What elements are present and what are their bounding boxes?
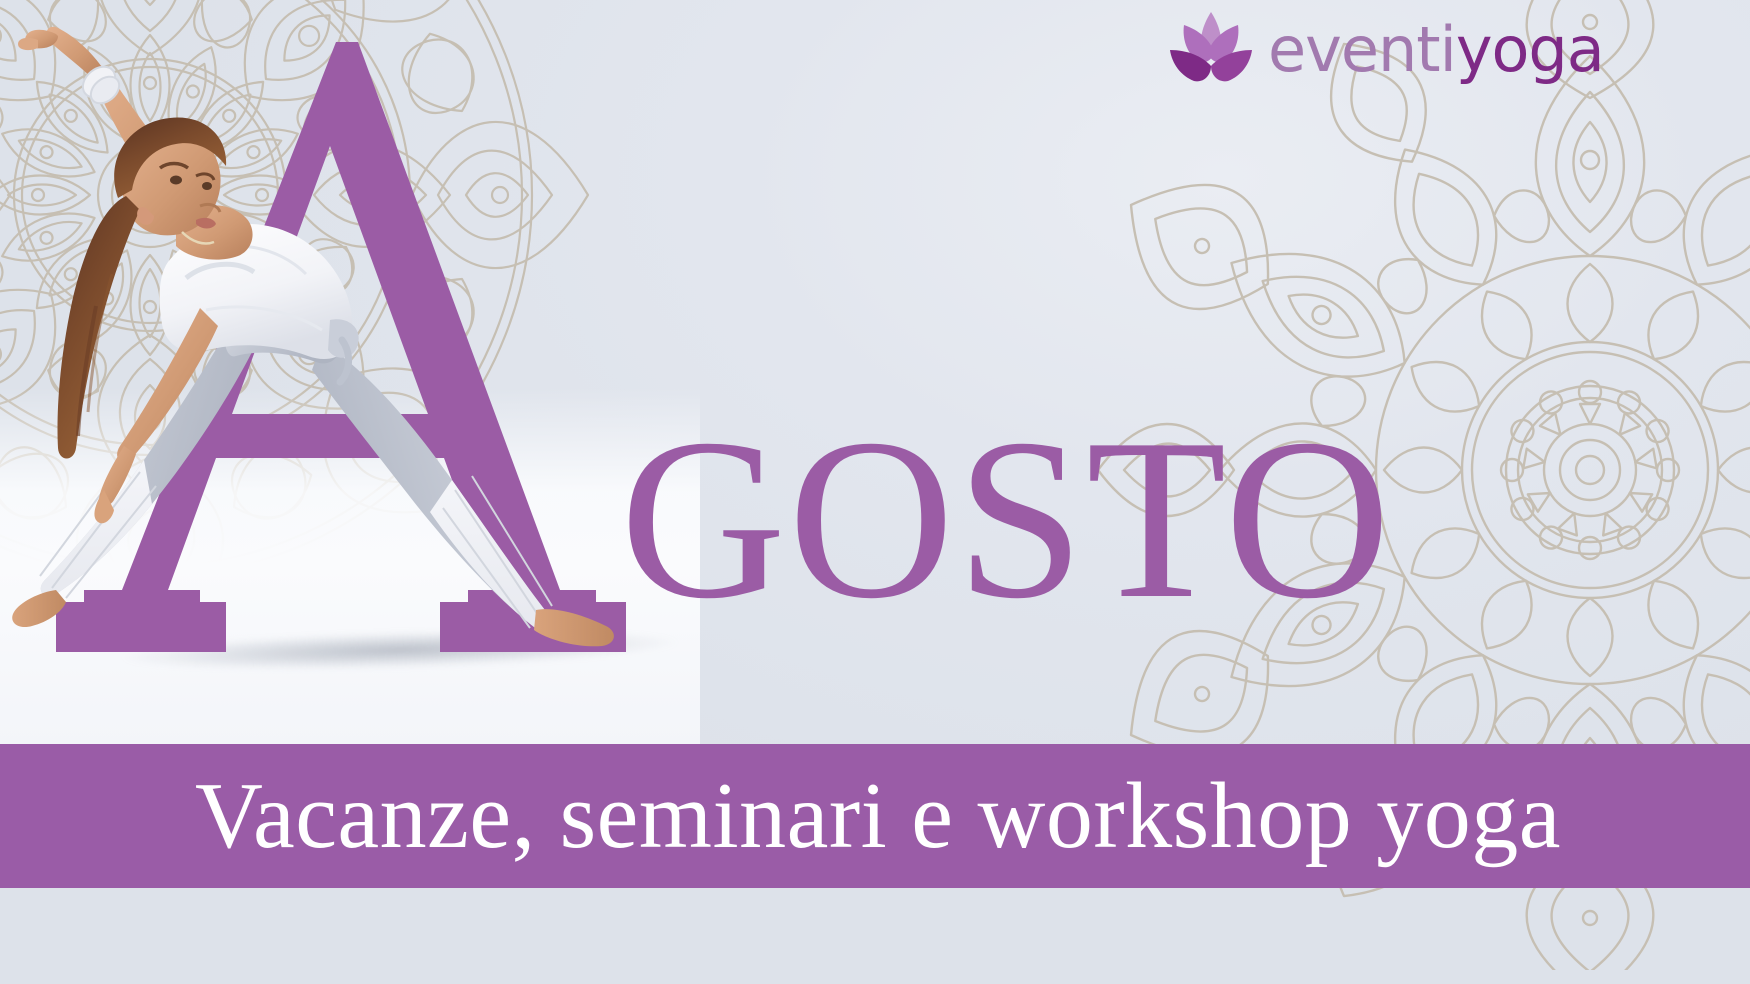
month-title-gosto: GOSTO [620, 404, 1393, 634]
brand-name-part-light: eventi [1268, 13, 1456, 86]
lotus-flower-icon [1168, 8, 1254, 91]
brand-name-part-dark: yoga [1456, 13, 1604, 86]
brand-logo-text: eventiyoga [1268, 19, 1604, 81]
brand-logo[interactable]: eventiyoga [1168, 8, 1604, 91]
tagline-text: Vacanze, seminari e workshop yoga [0, 744, 1750, 888]
poster-canvas: GOSTO eventiyoga Vacanze, seminari e wor… [0, 0, 1750, 984]
woman-yoga-triangle-pose-photo [0, 10, 660, 670]
